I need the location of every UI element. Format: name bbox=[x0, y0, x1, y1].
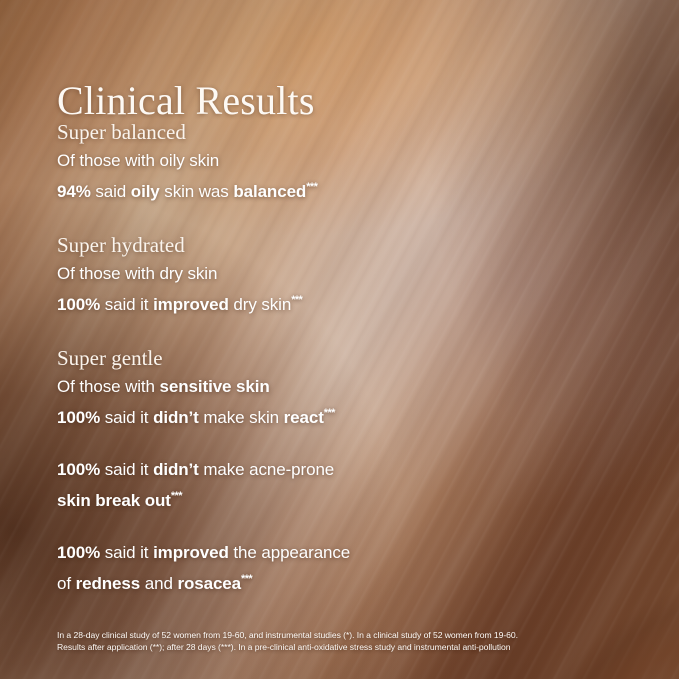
claim-line: 100% said it improved the appearance bbox=[57, 540, 617, 566]
claim-emphasis: skin break out bbox=[57, 491, 171, 510]
claim-text: skin was bbox=[160, 182, 234, 201]
footnote-marker: *** bbox=[171, 490, 182, 502]
claim-emphasis: 100% bbox=[57, 295, 100, 314]
footnote-marker: *** bbox=[241, 573, 252, 585]
claim-emphasis: rosacea bbox=[177, 574, 241, 593]
claim-line: skin break out*** bbox=[57, 483, 617, 514]
claim-text: said it bbox=[100, 460, 153, 479]
claim-line: 100% said it improved dry skin*** bbox=[57, 287, 617, 318]
claim-text: the appearance bbox=[229, 543, 350, 562]
claim-text: dry skin bbox=[229, 295, 291, 314]
claim-line: Of those with sensitive skin bbox=[57, 374, 617, 400]
claim-emphasis: oily bbox=[131, 182, 160, 201]
claim-heading: Super balanced bbox=[57, 118, 617, 146]
footnote: In a 28-day clinical study of 52 women f… bbox=[57, 630, 637, 653]
page-title: Clinical Results bbox=[57, 81, 315, 121]
footnote-marker: *** bbox=[306, 181, 317, 193]
claim-emphasis: balanced bbox=[233, 182, 306, 201]
claim-emphasis: 100% bbox=[57, 408, 100, 427]
claim-line: 100% said it didn’t make skin react*** bbox=[57, 400, 617, 431]
claim-emphasis: 100% bbox=[57, 543, 100, 562]
claim-text: said it bbox=[100, 543, 153, 562]
claim-text: of bbox=[57, 574, 76, 593]
claim-line: Of those with oily skin bbox=[57, 148, 617, 174]
claim-heading: Super gentle bbox=[57, 344, 617, 372]
claim-block: Super gentleOf those with sensitive skin… bbox=[57, 344, 617, 431]
claim-emphasis: 94% bbox=[57, 182, 91, 201]
claim-text: make acne-prone bbox=[199, 460, 334, 479]
claim-text: said bbox=[91, 182, 131, 201]
claim-emphasis: 100% bbox=[57, 460, 100, 479]
claim-text: and bbox=[140, 574, 177, 593]
claim-emphasis: improved bbox=[153, 295, 229, 314]
claim-emphasis: redness bbox=[76, 574, 141, 593]
claim-block: Super hydratedOf those with dry skin100%… bbox=[57, 231, 617, 318]
footnote-line-2: Results after application (**); after 28… bbox=[57, 642, 637, 654]
claim-text: said it bbox=[100, 295, 153, 314]
claim-emphasis: sensitive skin bbox=[160, 377, 270, 396]
claim-block: 100% said it improved the appearanceof r… bbox=[57, 540, 617, 597]
footnote-marker: *** bbox=[291, 294, 302, 306]
footnote-line-1: In a 28-day clinical study of 52 women f… bbox=[57, 630, 637, 642]
claim-emphasis: didn’t bbox=[153, 408, 199, 427]
clinical-results-poster: Clinical Results Super balancedOf those … bbox=[0, 0, 679, 679]
claim-text: Of those with bbox=[57, 377, 160, 396]
claim-block: Super balancedOf those with oily skin94%… bbox=[57, 118, 617, 205]
claim-line: of redness and rosacea*** bbox=[57, 566, 617, 597]
claim-text: said it bbox=[100, 408, 153, 427]
claim-block: 100% said it didn’t make acne-proneskin … bbox=[57, 457, 617, 514]
claim-text: make skin bbox=[199, 408, 284, 427]
claim-text: Of those with oily skin bbox=[57, 151, 219, 170]
claim-line: 100% said it didn’t make acne-prone bbox=[57, 457, 617, 483]
claim-line: 94% said oily skin was balanced*** bbox=[57, 174, 617, 205]
claim-heading: Super hydrated bbox=[57, 231, 617, 259]
claim-text: Of those with dry skin bbox=[57, 264, 217, 283]
claim-emphasis: react bbox=[284, 408, 324, 427]
claim-emphasis: didn’t bbox=[153, 460, 199, 479]
footnote-marker: *** bbox=[324, 407, 335, 419]
claim-line: Of those with dry skin bbox=[57, 261, 617, 287]
claims-list: Super balancedOf those with oily skin94%… bbox=[57, 118, 617, 597]
poster-content: Clinical Results Super balancedOf those … bbox=[0, 0, 679, 679]
claim-emphasis: improved bbox=[153, 543, 229, 562]
